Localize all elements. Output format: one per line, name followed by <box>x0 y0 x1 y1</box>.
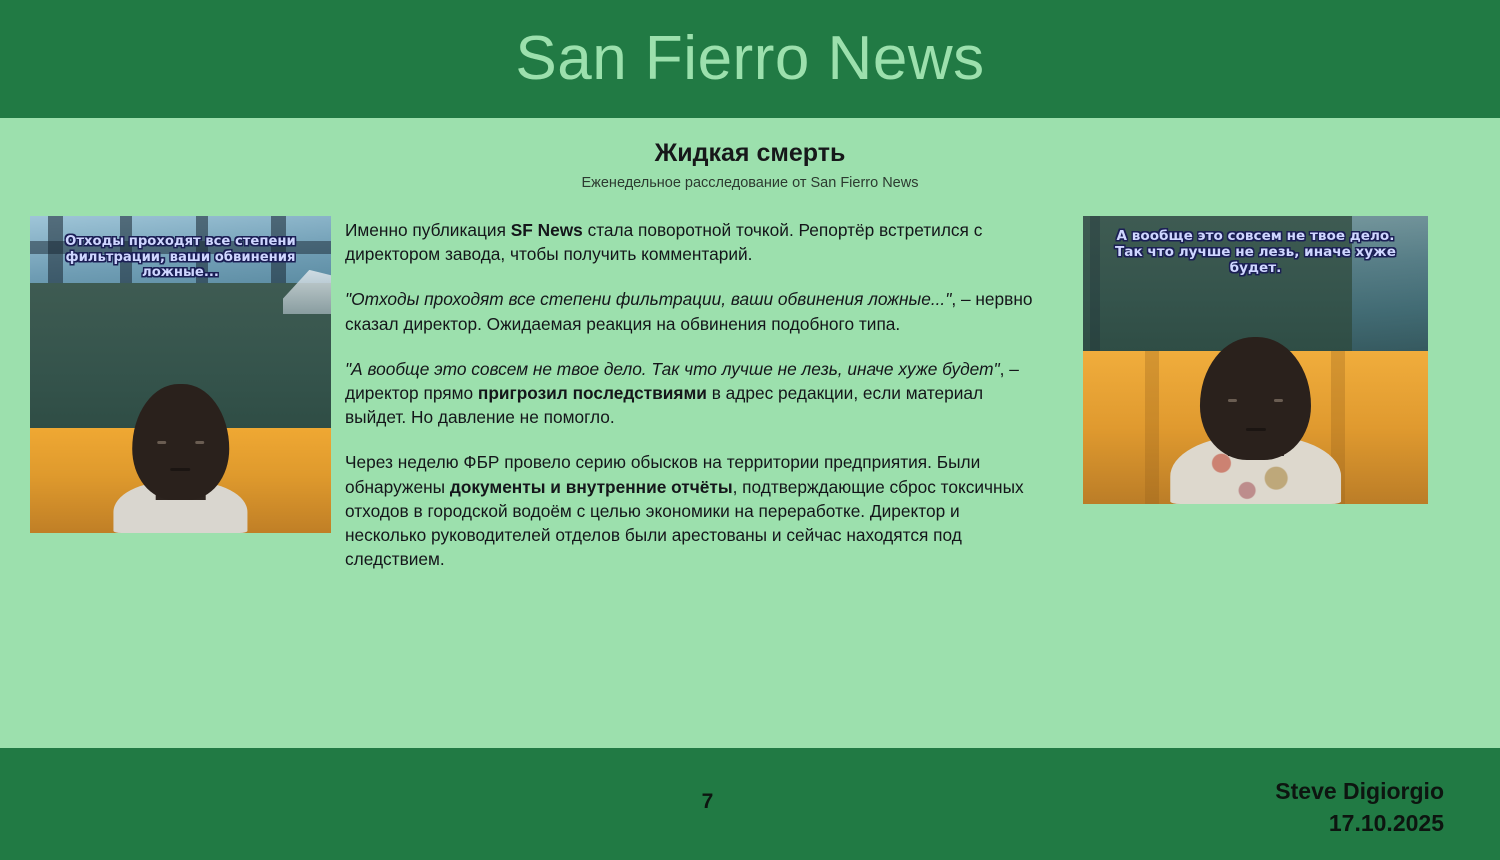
byline: Steve Digiorgio 17.10.2025 <box>1275 776 1444 839</box>
paragraph-4-bold: документы и внутренние отчёты <box>450 477 733 497</box>
article-header: Жидкая смерть Еженедельное расследование… <box>0 118 1500 192</box>
article-subtitle: Еженедельное расследование от San Fierro… <box>0 175 1500 192</box>
masthead-banner: San Fierro News <box>0 0 1500 118</box>
photo-left: Отходы проходят все степени фильтрации, … <box>30 216 331 533</box>
photo-right-background <box>1352 216 1428 351</box>
byline-author: Steve Digiorgio <box>1275 776 1444 808</box>
photo-right-beam <box>1090 216 1100 351</box>
photo-right: А вообще это совсем не твое дело. Так чт… <box>1083 216 1428 504</box>
paragraph-2-quote: "Отходы проходят все степени фильтрации,… <box>345 289 951 309</box>
masthead-title: San Fierro News <box>515 28 984 90</box>
photo-left-character-eye <box>195 441 204 444</box>
paragraph-1-brand: SF News <box>511 220 583 240</box>
photo-right-character-eye <box>1228 399 1237 402</box>
photo-right-character-eye <box>1274 399 1283 402</box>
byline-date: 17.10.2025 <box>1275 808 1444 840</box>
photo-left-character <box>102 381 259 533</box>
article-paragraph-1: Именно публикация SF News стала поворотн… <box>345 218 1035 266</box>
photo-left-character-mouth <box>170 468 190 471</box>
page-number: 7 <box>0 790 1415 814</box>
article-title: Жидкая смерть <box>0 139 1500 168</box>
article-paragraph-4: Через неделю ФБР провело серию обысков н… <box>345 450 1035 571</box>
paragraph-3-quote: "А вообще это совсем не твое дело. Так ч… <box>345 359 1000 379</box>
photo-right-character-head <box>1200 337 1312 459</box>
paragraph-3-bold: пригрозил последствиями <box>478 383 707 403</box>
photo-left-character-head <box>132 384 229 500</box>
paragraph-1-text-a: Именно публикация <box>345 220 511 240</box>
article-body: Именно публикация SF News стала поворотн… <box>345 218 1035 571</box>
page-footer: 7 Steve Digiorgio 17.10.2025 <box>0 748 1500 860</box>
photo-right-floor-seam <box>1145 351 1159 504</box>
article-paragraph-2: "Отходы проходят все степени фильтрации,… <box>345 287 1035 335</box>
photo-left-beam <box>30 241 331 254</box>
photo-right-character-mouth <box>1245 428 1265 431</box>
article-sheet: Жидкая смерть Еженедельное расследование… <box>0 118 1500 748</box>
photo-left-character-eye <box>157 441 166 444</box>
photo-right-character <box>1162 334 1348 504</box>
article-paragraph-3: "А вообще это совсем не твое дело. Так ч… <box>345 357 1035 430</box>
